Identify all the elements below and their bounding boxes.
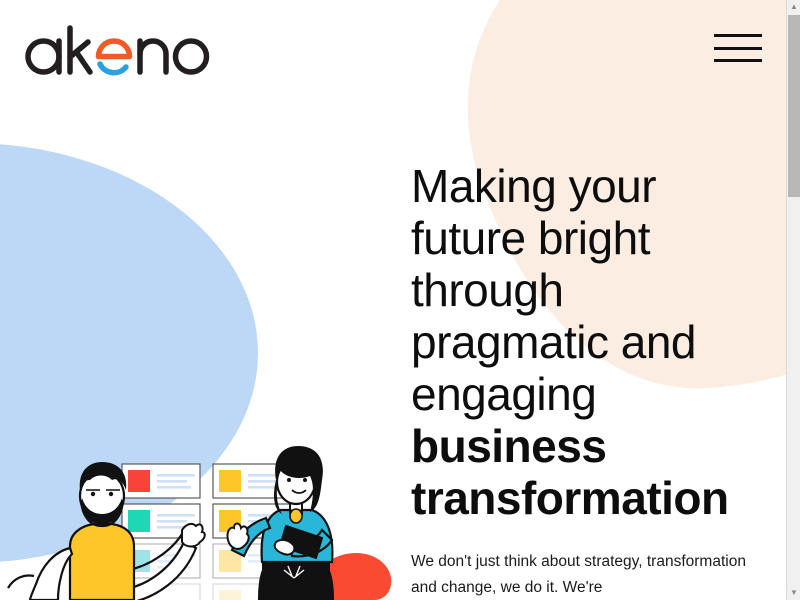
- site-header: [0, 0, 786, 100]
- scrollbar-arrow-down-icon[interactable]: ▼: [787, 586, 800, 600]
- hamburger-bar-1: [714, 34, 762, 37]
- hero-paragraph: We don't just think about strategy, tran…: [411, 549, 771, 600]
- hero-heading-line-4: pragmatic and: [411, 316, 696, 368]
- hamburger-bar-3: [714, 59, 762, 62]
- hamburger-bar-2: [714, 47, 762, 50]
- hero-heading-strong-line-2: transformation: [411, 472, 729, 524]
- hero-heading: Making your future bright through pragma…: [411, 160, 771, 524]
- page-viewport: Making your future bright through pragma…: [0, 0, 786, 600]
- scrollbar-arrow-up-icon[interactable]: ▲: [787, 0, 800, 14]
- hero-section: Making your future bright through pragma…: [411, 160, 771, 600]
- scrollbar-thumb[interactable]: [788, 15, 800, 197]
- vertical-scrollbar[interactable]: ▲ ▼: [786, 0, 800, 600]
- team-collaboration-illustration: [0, 400, 420, 600]
- hero-heading-line-2: future bright: [411, 212, 650, 264]
- hero-heading-strong-line-1: business: [411, 420, 606, 472]
- hero-heading-line-1: Making your: [411, 160, 656, 212]
- hamburger-menu-icon[interactable]: [714, 30, 764, 66]
- browser-page: Making your future bright through pragma…: [0, 0, 800, 600]
- hero-heading-line-3: through: [411, 264, 564, 316]
- hero-heading-line-5: engaging: [411, 368, 596, 420]
- akeno-logo[interactable]: [24, 24, 210, 78]
